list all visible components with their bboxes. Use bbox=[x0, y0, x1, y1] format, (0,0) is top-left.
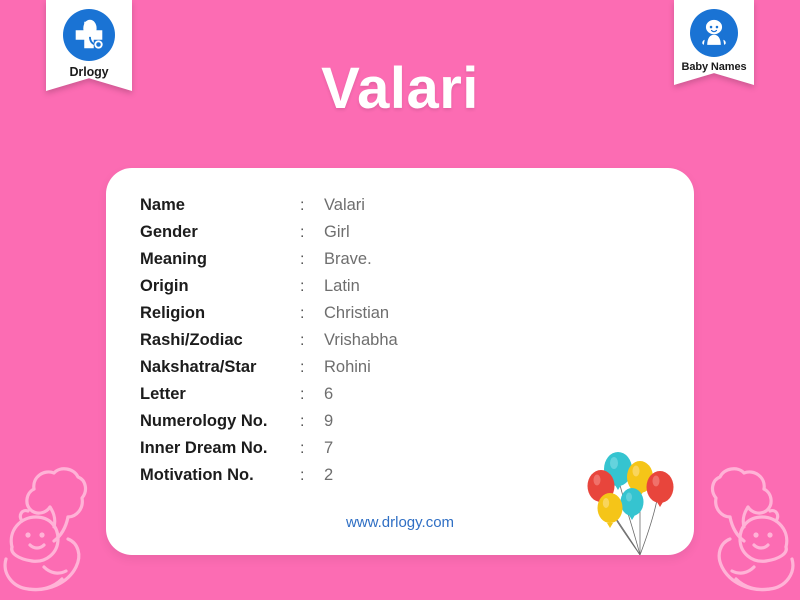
row-separator: : bbox=[300, 408, 322, 435]
table-row: Motivation No. : 2 bbox=[140, 462, 398, 489]
page-title: Valari bbox=[0, 59, 800, 120]
row-separator: : bbox=[300, 381, 322, 408]
row-separator: : bbox=[300, 192, 322, 219]
table-row: Religion : Christian bbox=[140, 300, 398, 327]
row-label: Religion bbox=[140, 300, 300, 327]
row-label: Numerology No. bbox=[140, 408, 300, 435]
table-row: Gender : Girl bbox=[140, 219, 398, 246]
decoration-mother-baby-right bbox=[686, 455, 800, 600]
row-value: Girl bbox=[322, 219, 398, 246]
name-details-card: Name : Valari Gender : Girl Meaning : Br… bbox=[106, 168, 694, 555]
table-row: Rashi/Zodiac : Vrishabha bbox=[140, 327, 398, 354]
row-separator: : bbox=[300, 435, 322, 462]
row-value: 7 bbox=[322, 435, 398, 462]
decoration-mother-baby-left bbox=[0, 455, 112, 600]
website-link[interactable]: www.drlogy.com bbox=[106, 514, 694, 531]
doctor-stethoscope-icon bbox=[63, 9, 115, 61]
row-value: 9 bbox=[322, 408, 398, 435]
row-separator: : bbox=[300, 462, 322, 489]
row-label: Gender bbox=[140, 219, 300, 246]
row-separator: : bbox=[300, 327, 322, 354]
row-value: Valari bbox=[322, 192, 398, 219]
row-label: Meaning bbox=[140, 246, 300, 273]
row-value: 6 bbox=[322, 381, 398, 408]
row-separator: : bbox=[300, 300, 322, 327]
table-row: Numerology No. : 9 bbox=[140, 408, 398, 435]
row-value: Vrishabha bbox=[322, 327, 398, 354]
table-row: Origin : Latin bbox=[140, 273, 398, 300]
baby-icon bbox=[690, 9, 738, 57]
table-row: Nakshatra/Star : Rohini bbox=[140, 354, 398, 381]
row-separator: : bbox=[300, 354, 322, 381]
row-label: Inner Dream No. bbox=[140, 435, 300, 462]
row-label: Rashi/Zodiac bbox=[140, 327, 300, 354]
table-row: Inner Dream No. : 7 bbox=[140, 435, 398, 462]
row-value: Brave. bbox=[322, 246, 398, 273]
row-label: Motivation No. bbox=[140, 462, 300, 489]
table-row: Meaning : Brave. bbox=[140, 246, 398, 273]
row-value: Latin bbox=[322, 273, 398, 300]
row-value: Christian bbox=[322, 300, 398, 327]
row-value: Rohini bbox=[322, 354, 398, 381]
row-separator: : bbox=[300, 219, 322, 246]
row-label: Name bbox=[140, 192, 300, 219]
row-separator: : bbox=[300, 273, 322, 300]
row-value: 2 bbox=[322, 462, 398, 489]
balloons-icon bbox=[584, 443, 688, 555]
table-body: Name : Valari Gender : Girl Meaning : Br… bbox=[140, 192, 398, 489]
row-label: Origin bbox=[140, 273, 300, 300]
name-details-table: Name : Valari Gender : Girl Meaning : Br… bbox=[140, 192, 398, 489]
row-label: Nakshatra/Star bbox=[140, 354, 300, 381]
row-label: Letter bbox=[140, 381, 300, 408]
row-separator: : bbox=[300, 246, 322, 273]
table-row: Name : Valari bbox=[140, 192, 398, 219]
table-row: Letter : 6 bbox=[140, 381, 398, 408]
